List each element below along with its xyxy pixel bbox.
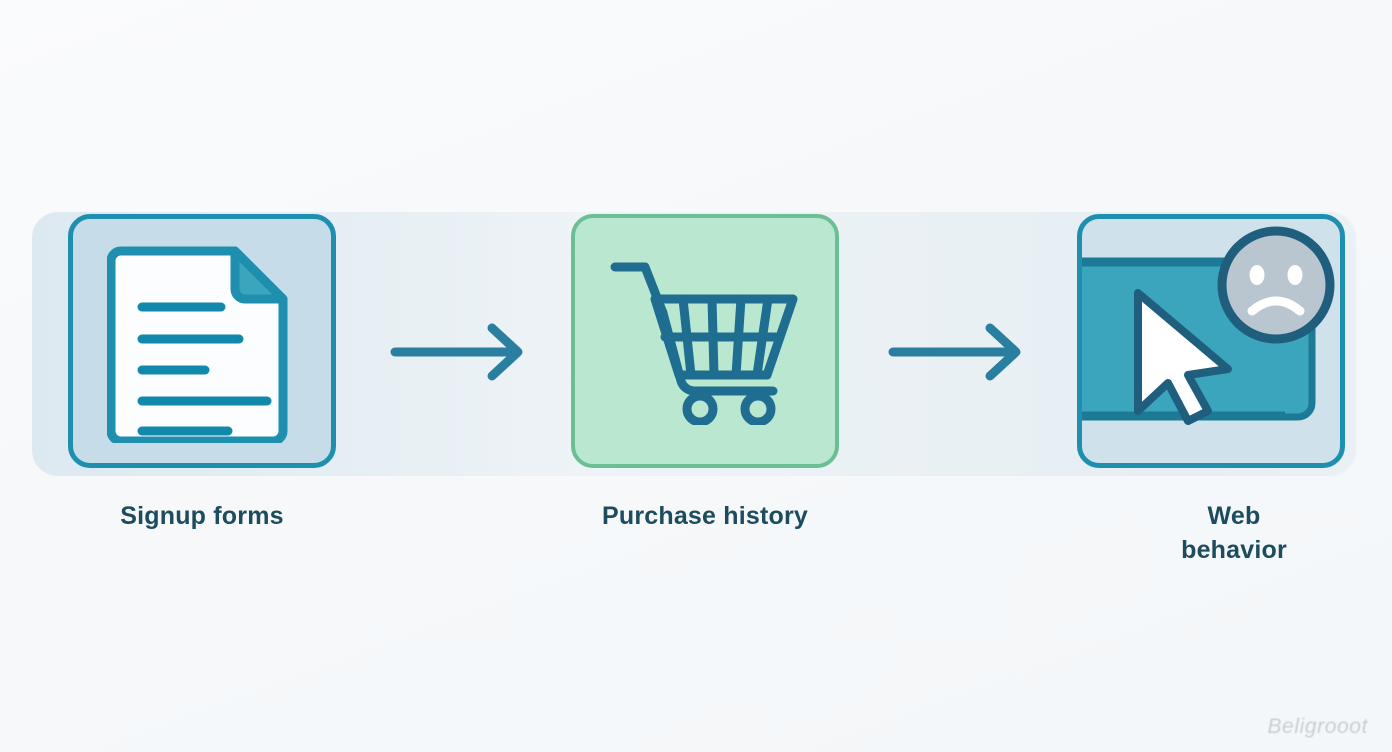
flow-step-label-line1: Web bbox=[1208, 502, 1261, 530]
flow-step-label: Webbehavior bbox=[1147, 499, 1322, 567]
flow-step-label: Signup forms bbox=[68, 499, 336, 533]
watermark: Beligrooot bbox=[1267, 715, 1368, 739]
flow-step-web-behavior[interactable]: Webbehavior bbox=[1077, 214, 1345, 567]
process-flow: Signup forms bbox=[0, 0, 1392, 752]
flow-step-signup-forms[interactable]: Signup forms bbox=[68, 214, 336, 533]
browser-cursor-icon bbox=[1080, 217, 1342, 465]
figure-canvas: Signup forms bbox=[0, 0, 1392, 752]
shopping-cart-icon bbox=[607, 257, 803, 425]
flow-step-label: Purchase history bbox=[571, 499, 839, 533]
arrow-right-icon-1 bbox=[387, 322, 537, 382]
document-icon bbox=[107, 239, 297, 443]
arrow-right-icon-2 bbox=[885, 322, 1035, 382]
flow-step-label-line2: behavior bbox=[1181, 536, 1287, 564]
card-purchase-history[interactable] bbox=[571, 214, 839, 468]
card-signup-forms[interactable] bbox=[68, 214, 336, 468]
card-web-behavior[interactable] bbox=[1077, 214, 1345, 468]
flow-step-purchase-history[interactable]: Purchase history bbox=[571, 214, 839, 533]
